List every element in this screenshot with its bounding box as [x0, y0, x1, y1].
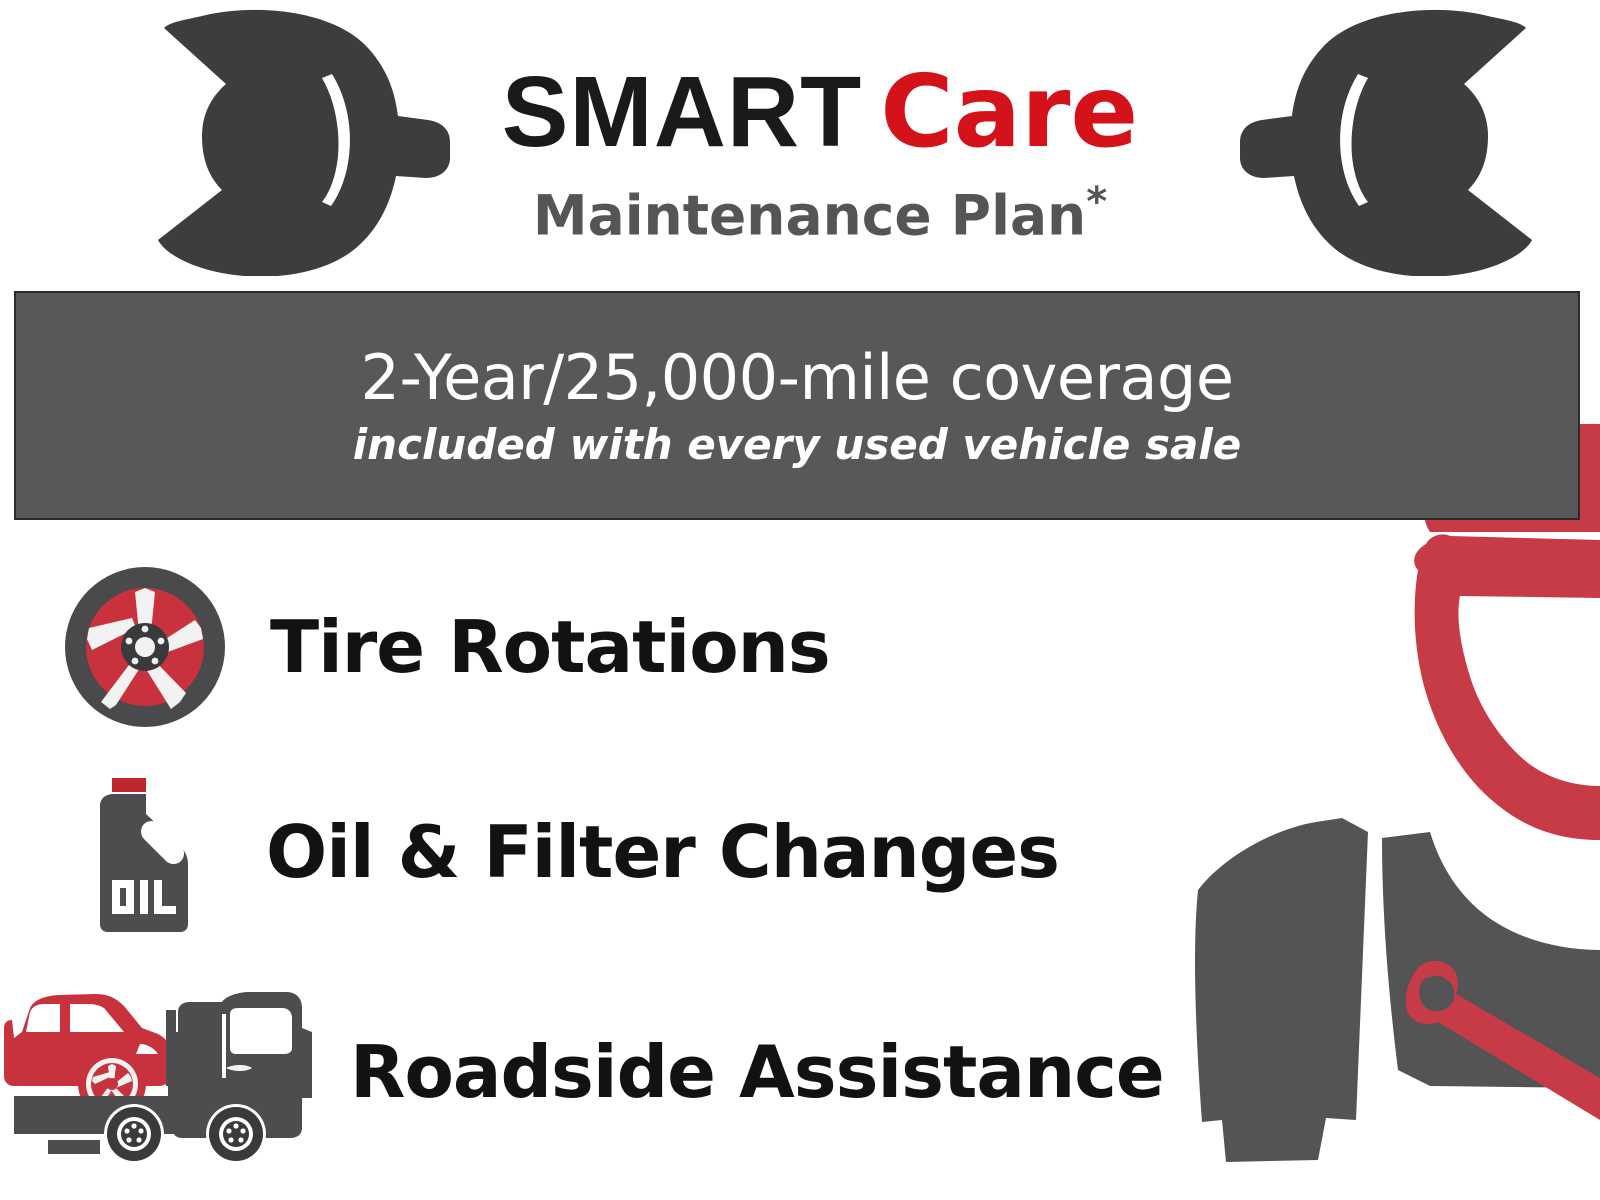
wrench-icon: [110, 8, 450, 276]
tire-wheel-icon: [60, 562, 230, 732]
feature-label: Roadside Assistance: [350, 1032, 1164, 1112]
brand-lockup: SMARTCare Maintenance Plan*: [420, 60, 1220, 246]
brand-subtitle-asterisk: *: [1086, 179, 1107, 225]
tow-truck-icon: [0, 982, 330, 1162]
coverage-subline: included with every used vehicle sale: [353, 419, 1241, 471]
brand-name-care: Care: [880, 53, 1138, 170]
oil-bottle-icon: [88, 772, 208, 932]
feature-list: Tire Rotations Oil & Filter Changes: [0, 540, 1180, 1200]
feature-item-tire-rotations: Tire Rotations: [60, 562, 1240, 732]
feature-item-roadside-assistance: Roadside Assistance: [0, 982, 1180, 1162]
feature-label: Oil & Filter Changes: [266, 812, 1059, 892]
coverage-headline: 2-Year/25,000-mile coverage: [361, 341, 1234, 415]
brand-subtitle: Maintenance Plan*: [420, 171, 1220, 246]
brand-subtitle-text: Maintenance Plan: [533, 183, 1086, 247]
feature-label: Tire Rotations: [270, 607, 830, 687]
mechanic-with-wrench-icon: [1130, 420, 1600, 1200]
brand-name: SMARTCare: [420, 60, 1220, 165]
feature-item-oil-filter-changes: Oil & Filter Changes: [60, 772, 1240, 932]
smart-care-maintenance-plan-graphic: SMARTCare Maintenance Plan* 2-Year/25,00…: [0, 0, 1600, 1200]
coverage-banner: 2-Year/25,000-mile coverage included wit…: [14, 291, 1580, 520]
wrench-icon: [1240, 8, 1580, 276]
brand-name-smart: SMART: [502, 56, 863, 168]
logo-header: SMARTCare Maintenance Plan*: [0, 0, 1600, 282]
